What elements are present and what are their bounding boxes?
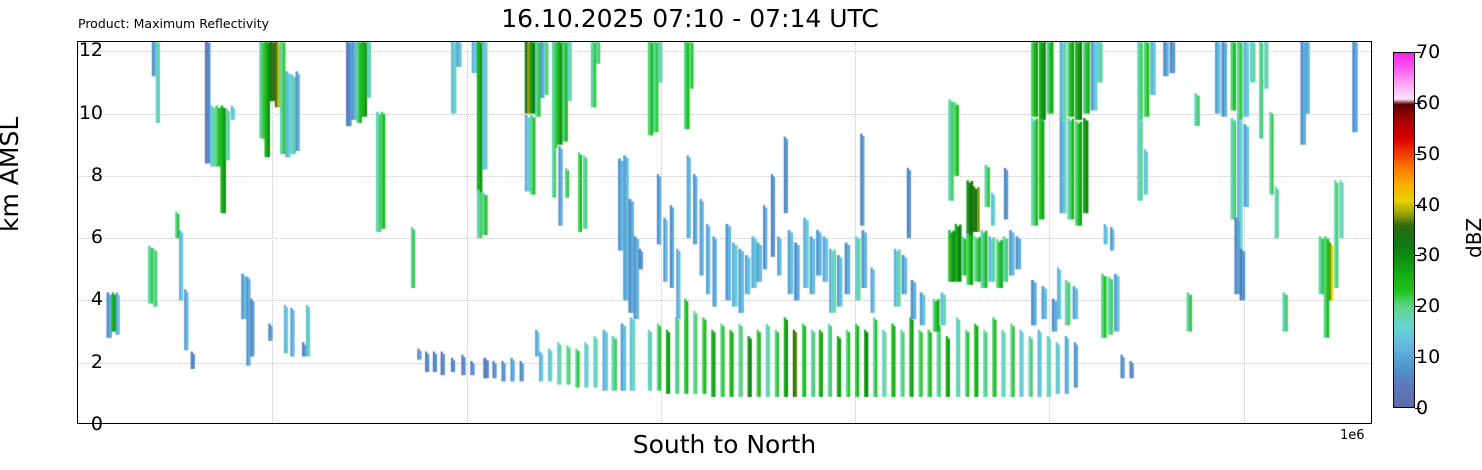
y-tick-label: 10 [79, 102, 103, 124]
y-tick-label: 6 [91, 226, 103, 248]
y-tick-mark [77, 238, 78, 239]
y-tick-label: 8 [91, 164, 103, 186]
x-axis-offset-text: 1e6 [1340, 428, 1365, 443]
y-tick-label: 4 [91, 288, 103, 310]
colorbar-tick-mark [1415, 357, 1421, 358]
colorbar-tick-mark [1415, 154, 1421, 155]
y-tick-label: 12 [79, 39, 103, 61]
product-label: Product: Maximum Reflectivity [78, 16, 269, 31]
colorbar-tick-mark [1415, 52, 1421, 53]
y-tick-label: 0 [91, 413, 103, 435]
x-axis-label: South to North [77, 430, 1372, 459]
colorbar-tick-mark [1415, 306, 1421, 307]
plot-area [77, 41, 1372, 424]
y-tick-label: 2 [91, 351, 103, 373]
colorbar-label: dBZ [1462, 218, 1482, 258]
colorbar-tick-mark [1415, 408, 1421, 409]
radar-cross-section-figure: 16.10.2025 07:10 - 07:14 UTC Product: Ma… [0, 0, 1482, 470]
y-tick-mark [77, 176, 78, 177]
colorbar-tick-mark [1415, 255, 1421, 256]
y-tick-mark [77, 300, 78, 301]
colorbar-tick-mark [1415, 205, 1421, 206]
colorbar-gradient [1394, 53, 1415, 408]
y-tick-mark [77, 363, 78, 364]
colorbar [1393, 52, 1415, 408]
colorbar-tick-mark [1415, 103, 1421, 104]
reflectivity-heatmap [78, 42, 1372, 424]
y-axis-label: km AMSL [0, 117, 24, 232]
